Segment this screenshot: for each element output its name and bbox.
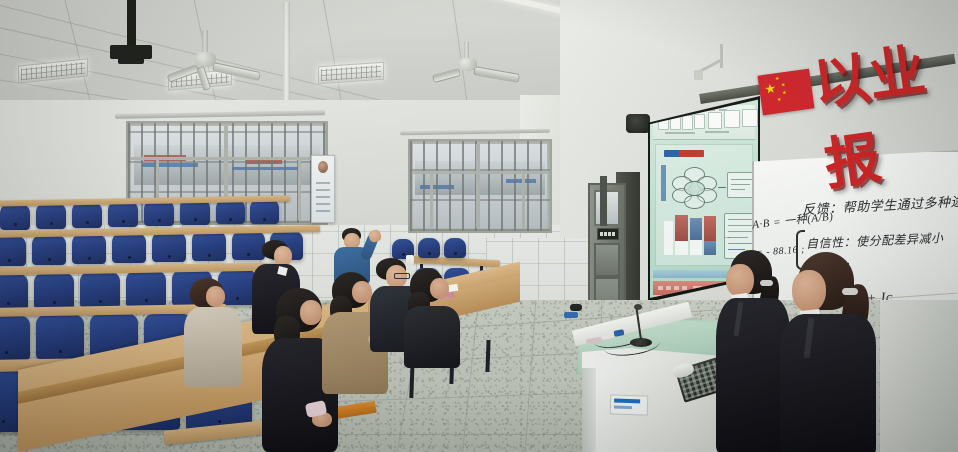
banner-bracket-vertical [720,44,723,68]
desk-item-blue-tag [564,312,578,318]
bracket-hook [694,70,703,80]
flag-star-small: ★ [782,91,787,97]
window-center [408,139,552,233]
ceiling-fan [440,42,520,94]
hair-tie [760,280,773,286]
podium-side-panel [582,368,596,452]
door-control-panel[interactable] [597,228,619,240]
door-window [594,190,620,226]
ceiling-fan [180,30,250,80]
slide-side-strip [661,165,666,201]
flag-star-small: ★ [777,98,782,104]
microphone-head [634,304,642,310]
attendee-dark-hair-woman-right [404,268,470,368]
presenter-back [780,252,890,452]
wall-slogan: 以业报 [807,21,958,201]
flag-star-large: ★ [764,81,777,95]
flag-star-small: ★ [775,77,780,83]
ceiling-mount-arm [118,57,144,64]
slide-chart [664,215,722,259]
ceiling-mount-bracket [127,0,136,47]
classroom-photo: 反馈：帮助学生通过多种途径获得 自信性：使分配差异减小 区分度： I = Iₐ … [0,0,958,452]
seat-back-right [444,238,466,258]
flag-star-small: ★ [781,83,786,89]
projector-pole [283,2,290,108]
whiteboard-formula-left: A·B = 一种(A/B) [751,208,834,232]
chinese-national-flag: ★ ★ ★ ★ ★ [757,69,814,116]
wall-speaker [626,114,650,133]
right-wall-corner [880,300,958,452]
slide-canvas [655,144,753,266]
desk-item-dark-puck [570,304,582,311]
wall-bracket [600,176,607,226]
whiteboard-line-2: 自信性：使分配差异减小 [806,229,944,252]
slide-title-bar [664,150,704,157]
hair-tie [842,288,858,295]
slide-petal-diagram [672,167,716,207]
seat-back-right [418,238,440,258]
attendee-beige-coat-left [184,278,250,388]
podium-equipment-label [610,394,649,415]
